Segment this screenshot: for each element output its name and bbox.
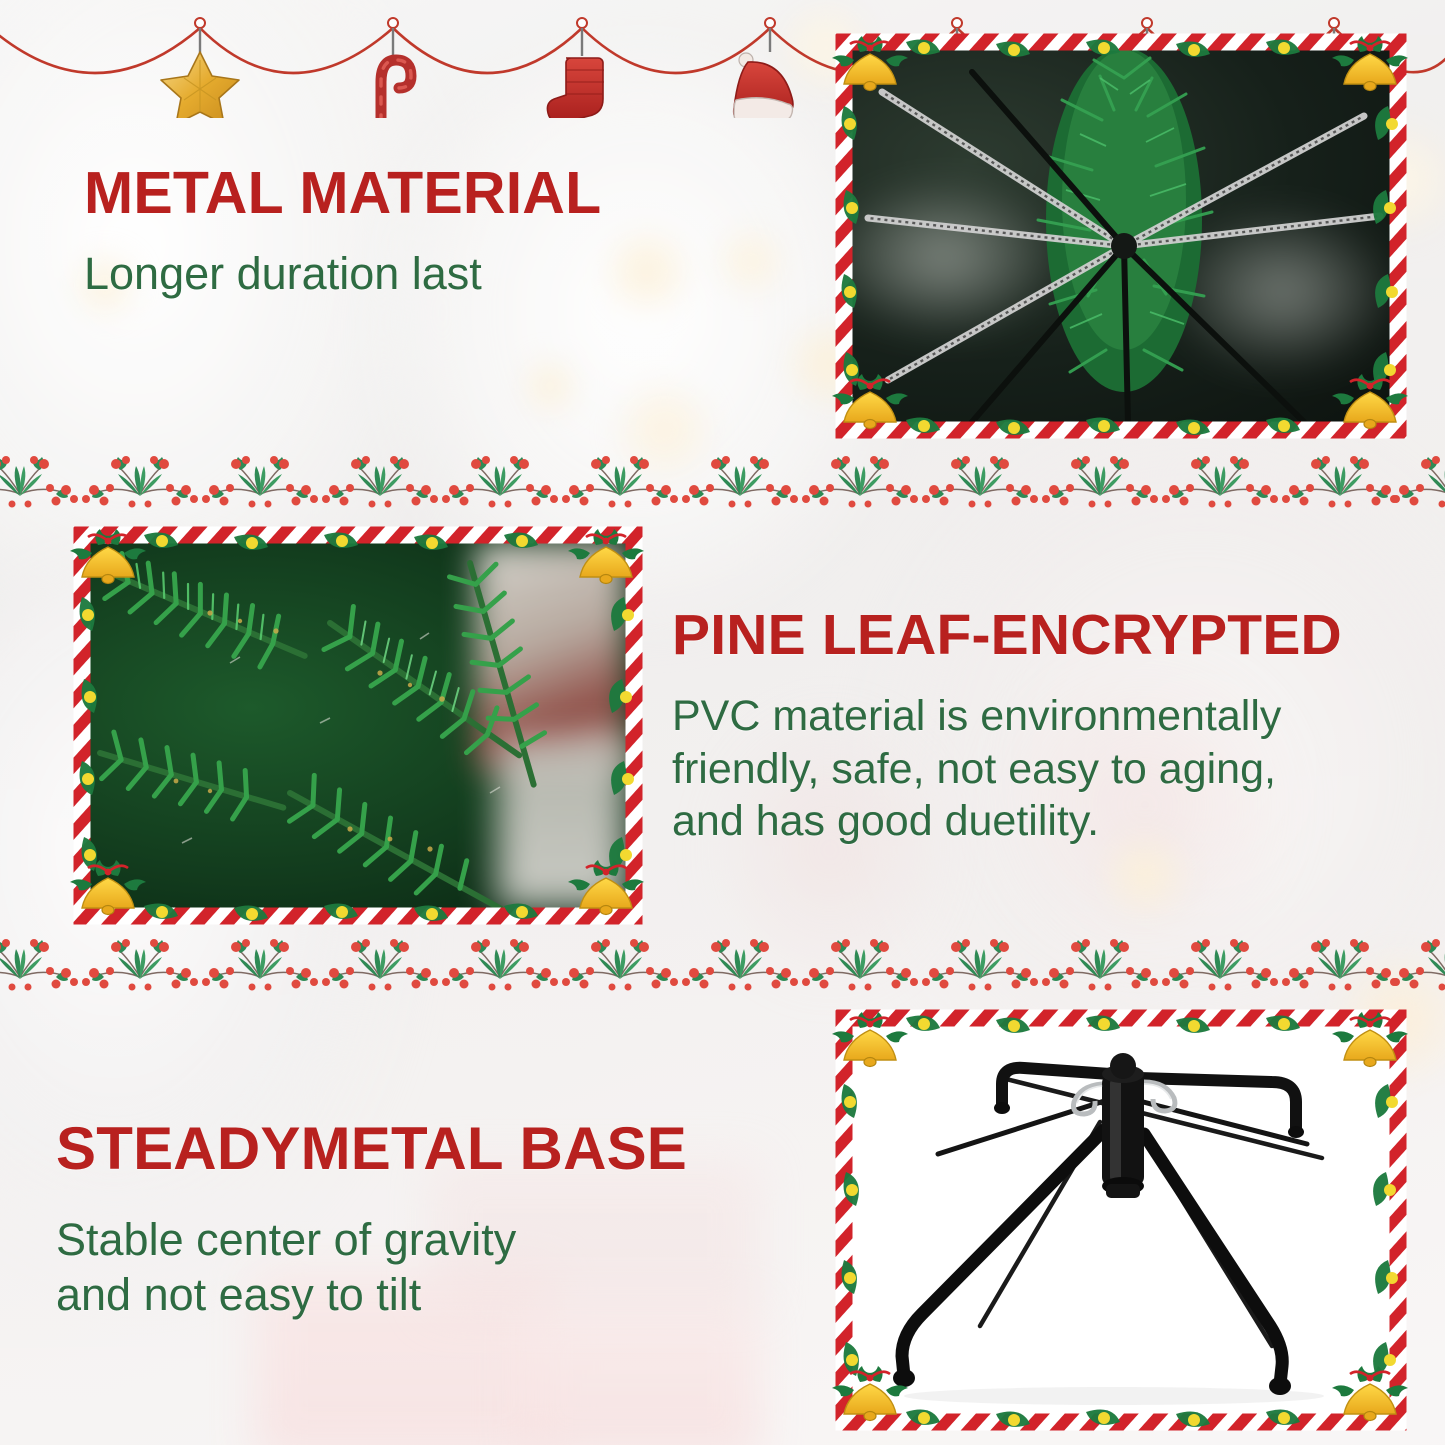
feature-body-metal-material: Longer duration last (84, 247, 601, 302)
candy-cane-photo-border (836, 1010, 1406, 1430)
feature-heading-steadymetal-base: STEADYMETAL BASE (56, 1118, 687, 1179)
feature-body-line: and has good duetility. (672, 795, 1414, 847)
feature-body-line: Stable center of gravity (56, 1213, 687, 1268)
feature-block-pine-leaf-encrypted: PINE LEAF-ENCRYPTED PVC material is envi… (672, 606, 1414, 847)
photo-metal-spider-frame (836, 34, 1406, 438)
feature-body-line: friendly, safe, not easy to aging, (672, 743, 1414, 795)
feature-heading-metal-material: METAL MATERIAL (84, 163, 601, 223)
feature-block-steadymetal-base: STEADYMETAL BASE Stable center of gravit… (56, 1118, 687, 1323)
feature-body-steadymetal-base: Stable center of gravity and not easy to… (56, 1213, 687, 1323)
holly-berry-divider-bottom (0, 935, 1445, 995)
feature-body-line: PVC material is environmentally (672, 690, 1414, 742)
feature-block-metal-material: METAL MATERIAL Longer duration last (84, 163, 601, 302)
photo-black-metal-stand (836, 1010, 1406, 1430)
feature-body-line: and not easy to tilt (56, 1268, 687, 1323)
feature-body-pine-leaf-encrypted: PVC material is environmentally friendly… (672, 690, 1414, 847)
holly-berry-divider-top (0, 452, 1445, 512)
star-ornament-icon (161, 28, 239, 118)
feature-heading-pine-leaf-encrypted: PINE LEAF-ENCRYPTED (672, 606, 1414, 664)
photo-pvc-pine-leaves (74, 527, 642, 924)
candy-cane-photo-border (836, 34, 1406, 438)
garland-hooks (195, 18, 1339, 28)
candy-cane-photo-border (74, 527, 642, 924)
